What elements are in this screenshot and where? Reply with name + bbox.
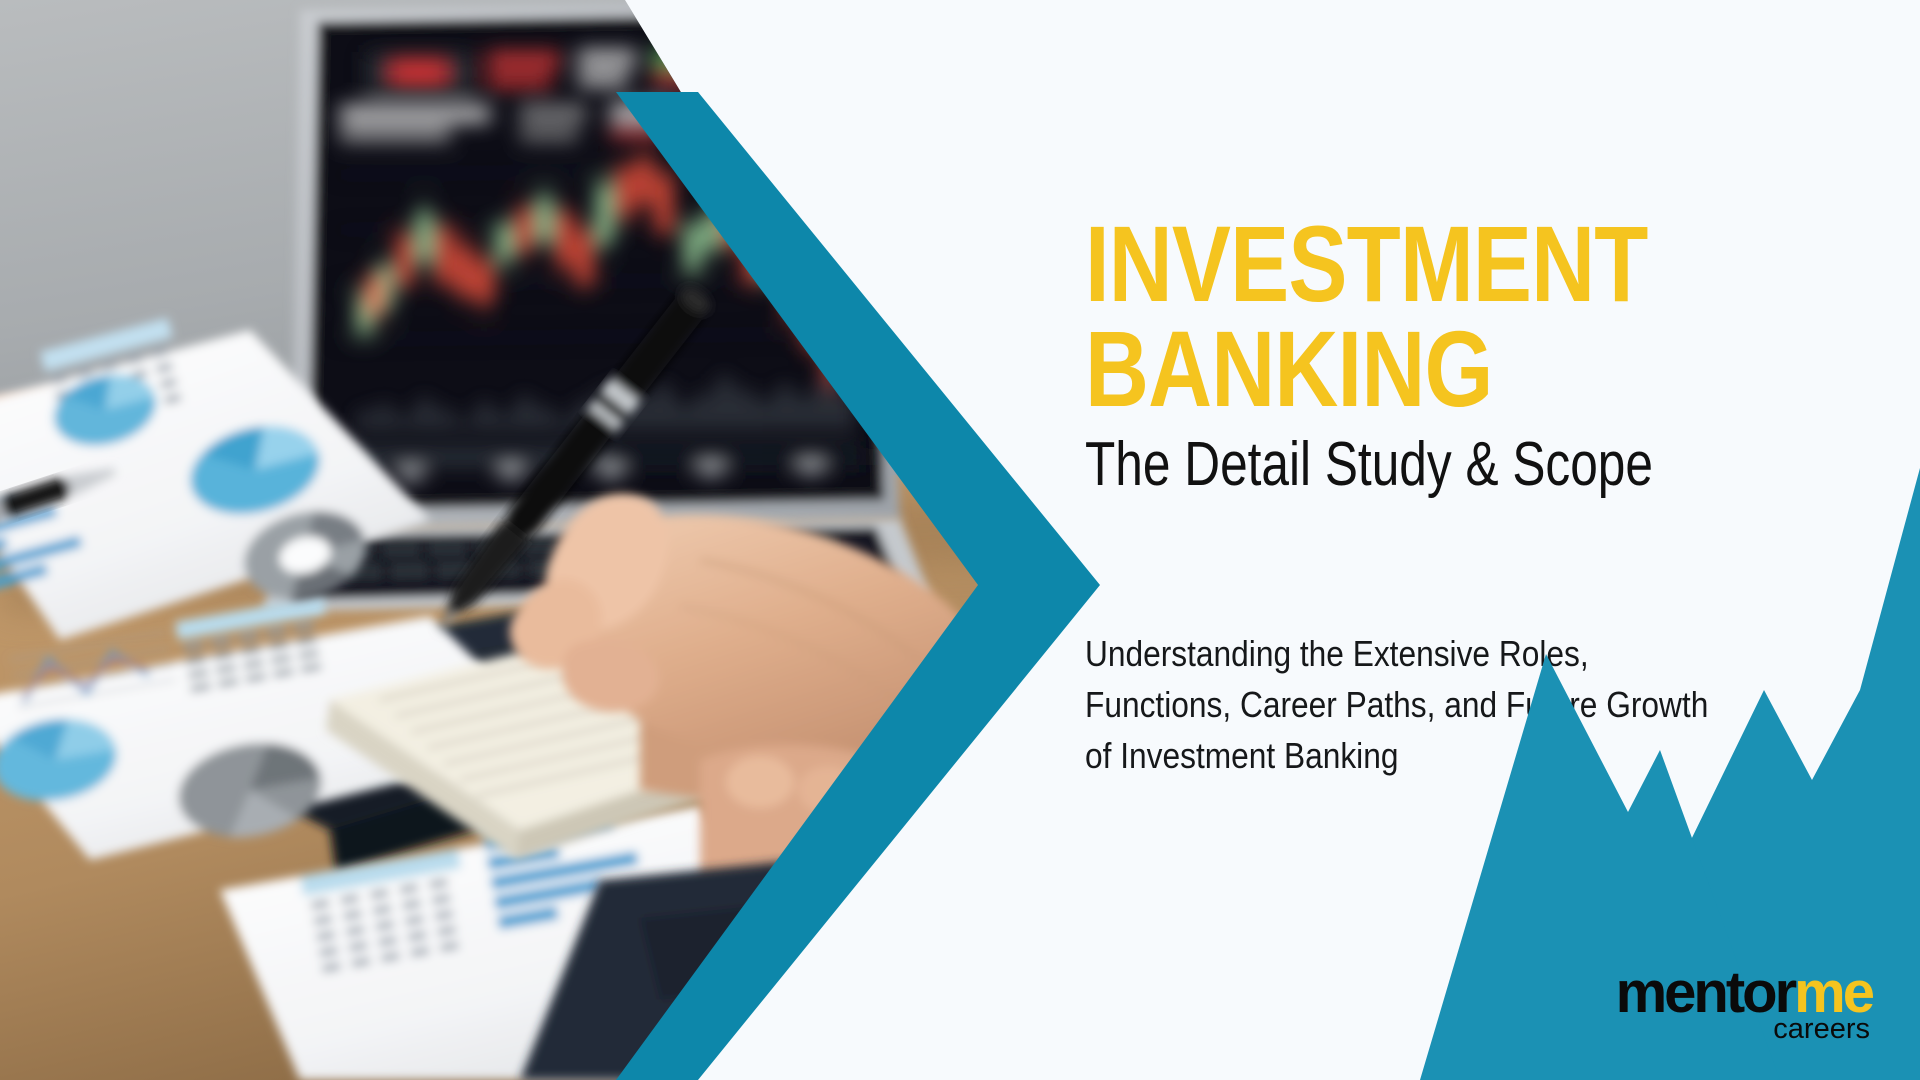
content-column: INVESTMENT BANKING The Detail Study & Sc… [1085, 0, 1885, 1080]
brand-logo[interactable]: mentorme careers [1616, 967, 1872, 1044]
body-description: Understanding the Extensive Roles, Funct… [1085, 628, 1741, 781]
page-subtitle: The Detail Study & Scope [1085, 432, 1725, 497]
slide-canvas: INVESTMENT BANKING The Detail Study & Sc… [0, 0, 1920, 1080]
logo-wordmark: mentorme [1616, 967, 1872, 1019]
title-block: INVESTMENT BANKING The Detail Study & Sc… [1085, 212, 1885, 497]
page-title-line2: BANKING [1085, 317, 1741, 422]
logo-word-primary: mentor [1616, 960, 1795, 1025]
hero-photo [0, 0, 1000, 1080]
page-title-line1: INVESTMENT [1085, 212, 1741, 317]
